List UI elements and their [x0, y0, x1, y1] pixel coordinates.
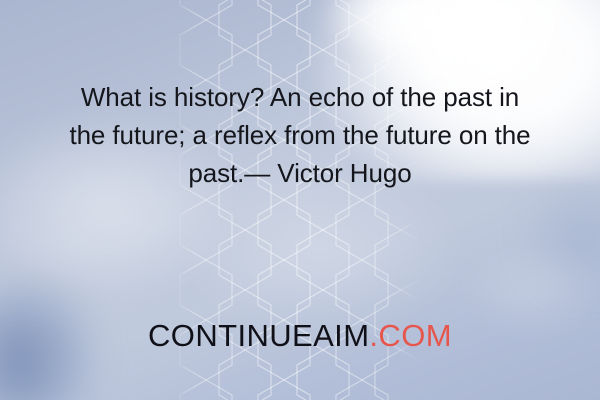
quote-card: What is history? An echo of the past in … [0, 0, 600, 400]
quote-block: What is history? An echo of the past in … [60, 78, 540, 192]
brand-name: CONTINUEAIM [148, 318, 369, 353]
brand-wordmark: CONTINUEAIM.COM [148, 318, 452, 353]
quote-text: What is history? An echo of the past in … [60, 78, 540, 192]
brand-block: CONTINUEAIM.COM [0, 318, 600, 354]
brand-tld: .COM [369, 318, 452, 353]
card-content: What is history? An echo of the past in … [0, 0, 600, 400]
